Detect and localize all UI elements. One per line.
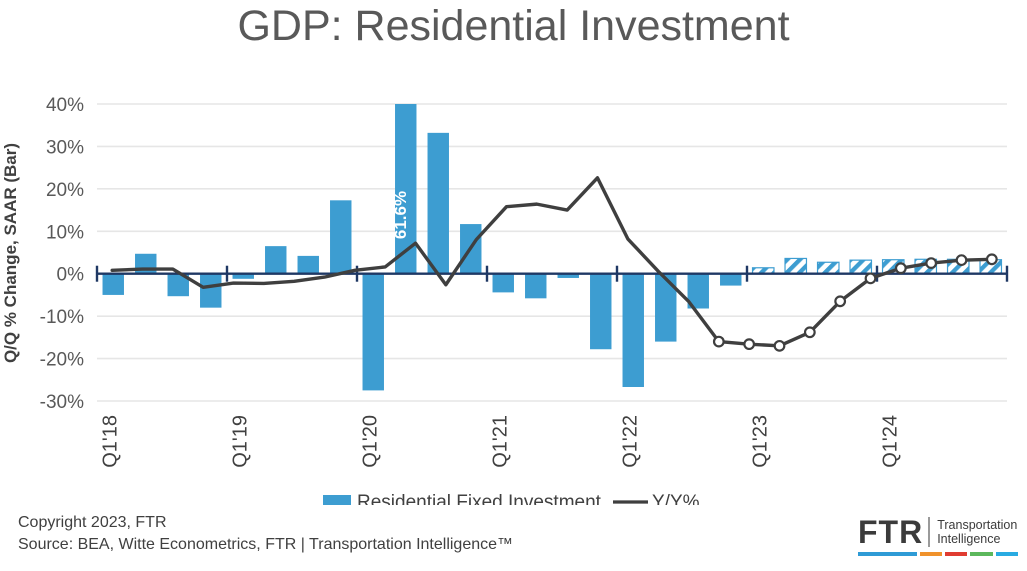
logo-color-bar	[858, 552, 917, 556]
logo-color-bar	[970, 552, 992, 556]
legend-line-label: Y/Y%	[652, 492, 700, 505]
y-axis-tick-label: -30%	[40, 392, 84, 413]
logo-color-bar	[945, 552, 967, 556]
logo-divider	[928, 517, 930, 547]
x-axis-label: Q1'20	[359, 415, 381, 468]
bar	[525, 274, 546, 299]
bar	[103, 274, 124, 295]
bar-data-labels: 61.6%	[391, 191, 410, 239]
ftr-logo: FTR Transportation Intelligence	[858, 516, 1018, 564]
y-axis-tick-label: -10%	[40, 307, 84, 328]
forecast-point-marker	[775, 341, 785, 351]
y-axis-tick-label: 30%	[46, 137, 84, 158]
logo-color-bars	[858, 552, 1018, 556]
legend-bar-swatch	[323, 495, 351, 505]
x-axis-label: Q1'18	[99, 415, 121, 468]
bar-forecast	[850, 260, 871, 274]
forecast-point-marker	[835, 296, 845, 306]
x-axis-label: Q1'22	[619, 415, 641, 468]
chart-canvas: 40%30%20%10%0%-10%-20%-30% 61.6% Q1'18Q1…	[0, 0, 1027, 505]
chart-legend: Residential Fixed Investment Y/Y%	[323, 492, 700, 505]
forecast-point-marker	[896, 263, 906, 273]
bar	[265, 246, 286, 274]
y-axis-tick-labels: 40%30%20%10%0%-10%-20%-30%	[40, 95, 84, 413]
bar-series	[103, 12, 1002, 390]
logo-color-bar	[920, 552, 942, 556]
bar	[200, 274, 221, 308]
x-axis-label: Q1'19	[229, 415, 251, 468]
bar	[428, 133, 449, 274]
forecast-point-marker	[805, 327, 815, 337]
forecast-point-marker	[744, 339, 754, 349]
forecast-point-marker	[866, 274, 876, 284]
y-axis-tick-label: -20%	[40, 350, 84, 371]
forecast-point-marker	[957, 255, 967, 265]
bar	[363, 274, 384, 391]
bar	[590, 274, 611, 350]
logo-tagline-line2: Intelligence	[937, 532, 1017, 546]
logo-color-bar	[996, 552, 1018, 556]
y-axis-tick-label: 40%	[46, 95, 84, 116]
y-axis-title: Q/Q % Change, SAAR (Bar)	[1, 143, 20, 363]
forecast-point-marker	[714, 337, 724, 347]
copyright-line: Copyright 2023, FTR	[18, 512, 513, 534]
bar-forecast	[818, 262, 839, 273]
y-axis-tick-label: 0%	[57, 265, 85, 286]
x-axis-category-labels: Q1'18Q1'19Q1'20Q1'21Q1'22Q1'23Q1'24	[99, 415, 901, 468]
bar	[298, 256, 319, 274]
gridlines	[97, 104, 1007, 401]
x-axis-label: Q1'24	[879, 415, 901, 468]
x-axis-label: Q1'21	[489, 415, 511, 468]
logo-wordmark: FTR	[858, 516, 923, 548]
bar	[720, 274, 741, 286]
footer: Copyright 2023, FTR Source: BEA, Witte E…	[18, 512, 513, 555]
bar	[623, 274, 644, 387]
logo-tagline-line1: Transportation	[937, 518, 1017, 532]
source-line: Source: BEA, Witte Econometrics, FTR | T…	[18, 534, 513, 556]
legend-bar-label: Residential Fixed Investment	[357, 492, 602, 505]
forecast-point-marker	[987, 254, 997, 264]
y-axis-tick-label: 20%	[46, 180, 84, 201]
bar	[493, 274, 514, 293]
bar	[330, 200, 351, 273]
y-axis-tick-label: 10%	[46, 222, 84, 243]
bar-forecast	[785, 258, 806, 273]
x-axis-label: Q1'23	[749, 415, 771, 468]
forecast-point-marker	[926, 258, 936, 268]
bar-value-label: 61.6%	[391, 191, 410, 239]
